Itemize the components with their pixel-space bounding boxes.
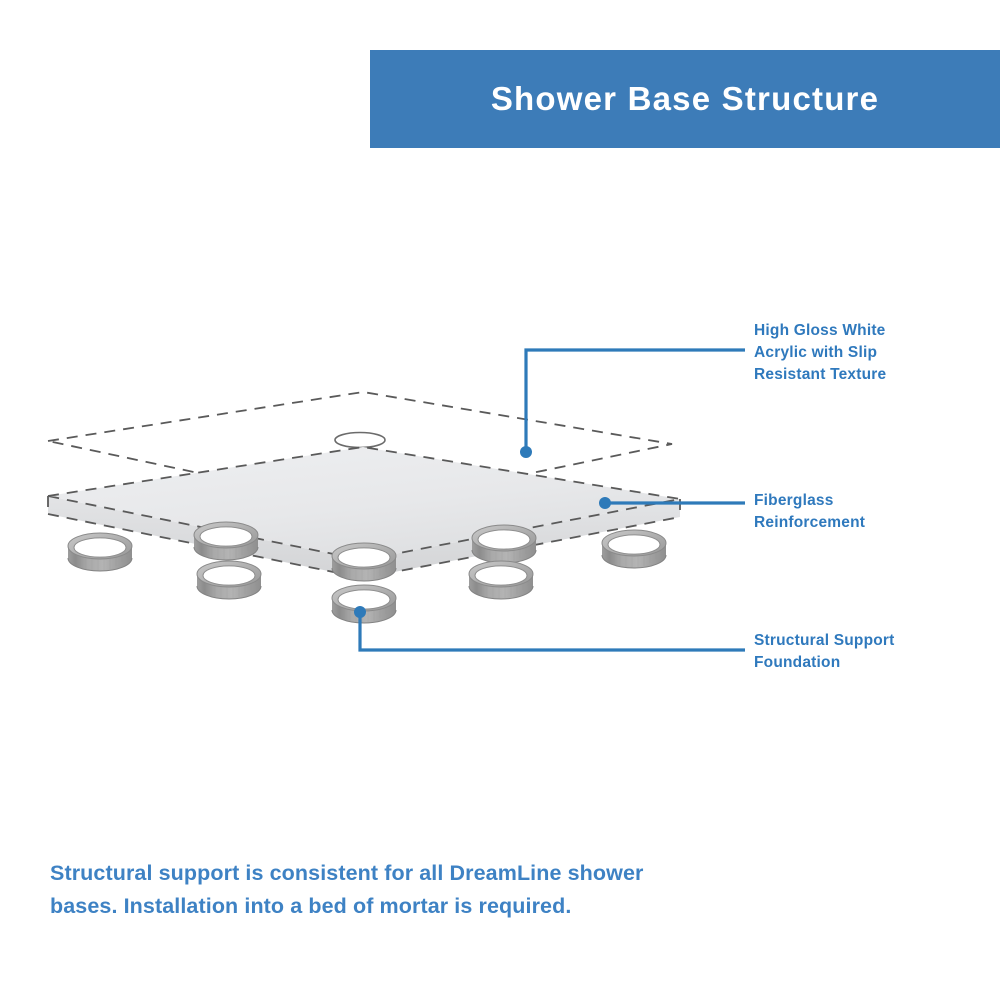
leader-line-acrylic xyxy=(526,350,745,452)
callout-label-support: Structural Support Foundation xyxy=(754,630,994,674)
support-ring xyxy=(469,561,533,599)
leader-dot-acrylic xyxy=(520,446,532,458)
support-ring xyxy=(602,530,666,568)
callout-label-acrylic: High Gloss White Acrylic with Slip Resis… xyxy=(754,320,994,386)
support-ring xyxy=(332,543,396,581)
leader-dot-fiberglass xyxy=(599,497,611,509)
footer-note: Structural support is consistent for all… xyxy=(50,857,670,922)
support-ring xyxy=(194,522,258,560)
drain-ellipse xyxy=(335,433,385,448)
support-ring xyxy=(197,561,261,599)
support-ring xyxy=(472,525,536,563)
callout-label-fiberglass: Fiberglass Reinforcement xyxy=(754,490,994,534)
leader-dot-support xyxy=(354,606,366,618)
leader-line-support xyxy=(360,612,745,650)
support-ring xyxy=(68,533,132,571)
support-ring-front xyxy=(332,585,396,623)
shower-base-structure-infographic: Shower Base Structure xyxy=(0,0,1000,1000)
